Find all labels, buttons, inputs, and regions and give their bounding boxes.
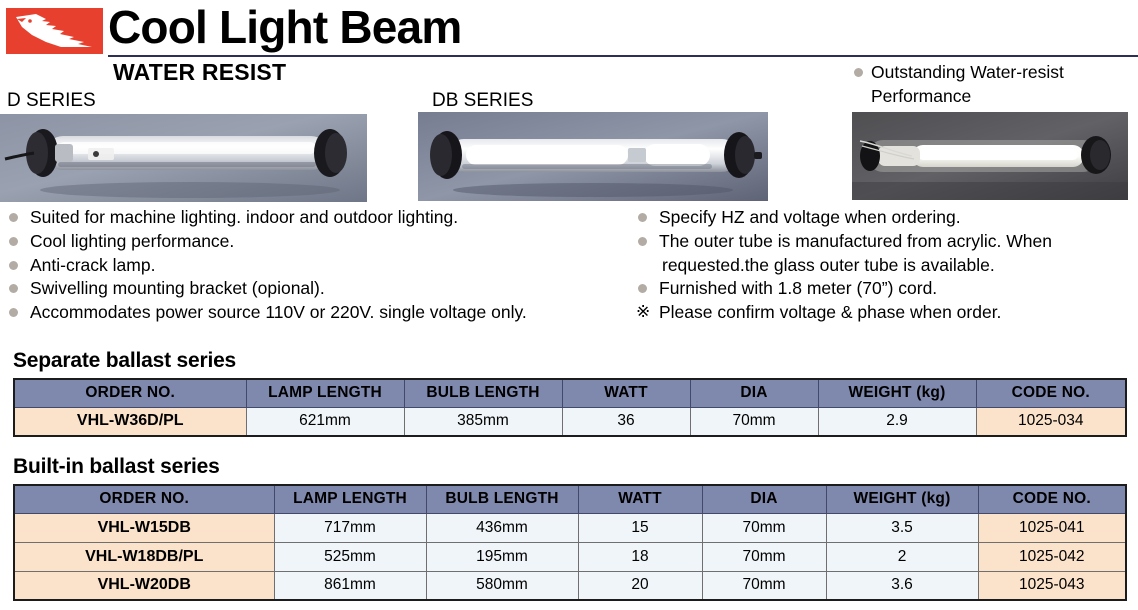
separate-ballast-table: ORDER NO. LAMP LENGTH BULB LENGTH WATT D… [13,378,1127,437]
tube-light-db-series-photo [418,112,768,201]
list-item-label-continued: requested.the glass outer tube is availa… [659,254,1138,278]
table-header-row: ORDER NO. LAMP LENGTH BULB LENGTH WATT D… [14,485,1126,513]
cell-watt: 15 [578,513,702,542]
cell-order-no: VHL-W18DB/PL [14,542,274,571]
cell-code-no: 1025-034 [976,407,1126,436]
cell-weight: 3.5 [826,513,978,542]
section-title-separate-ballast: Separate ballast series [13,348,236,374]
list-item: The outer tube is manufactured from acry… [637,230,1138,278]
cell-bulb-length: 580mm [426,571,578,600]
cell-order-no: VHL-W20DB [14,571,274,600]
column-header-weight: WEIGHT (kg) [818,379,976,407]
list-item-label: The outer tube is manufactured from acry… [659,231,1052,251]
cell-watt: 20 [578,571,702,600]
eagle-head-logo-icon [6,8,103,54]
bullet-icon [9,261,18,270]
column-header-bulb-length: BULB LENGTH [404,379,562,407]
list-item-note: ※ Please confirm voltage & phase when or… [637,301,1138,325]
column-header-order-no: ORDER NO. [14,485,274,513]
list-item: Swivelling mounting bracket (opional). [8,277,628,301]
table-row: VHL-W36D/PL 621mm 385mm 36 70mm 2.9 1025… [14,407,1126,436]
cell-code-no: 1025-041 [978,513,1126,542]
bullet-icon [9,213,18,222]
series-label-db: DB SERIES [432,89,533,113]
cell-dia: 70mm [702,513,826,542]
list-item: Accommodates power source 110V or 220V. … [8,301,628,325]
page-subtitle: WATER RESIST [113,57,286,87]
cell-order-no: VHL-W15DB [14,513,274,542]
list-item: Suited for machine lighting. indoor and … [8,206,628,230]
page-header: Cool Light Beam WATER RESIST Outstanding… [0,0,1138,88]
page-title: Cool Light Beam [108,0,461,55]
list-item-label: Accommodates power source 110V or 220V. … [30,302,527,322]
bullet-icon [9,237,18,246]
cell-lamp-length: 621mm [246,407,404,436]
column-header-watt: WATT [578,485,702,513]
column-header-code-no: CODE NO. [976,379,1126,407]
list-item-label: Specify HZ and voltage when ordering. [659,207,961,227]
cell-watt: 18 [578,542,702,571]
cell-code-no: 1025-042 [978,542,1126,571]
cell-lamp-length: 717mm [274,513,426,542]
list-item-label: Cool lighting performance. [30,231,234,251]
column-header-order-no: ORDER NO. [14,379,246,407]
cell-weight: 2 [826,542,978,571]
tube-light-lit-water-resist-photo [852,112,1128,200]
cell-lamp-length: 525mm [274,542,426,571]
column-header-lamp-length: LAMP LENGTH [274,485,426,513]
cell-weight: 3.6 [826,571,978,600]
cell-code-no: 1025-043 [978,571,1126,600]
series-label-d: D SERIES [7,89,96,113]
tube-light-d-series-photo [0,114,367,202]
cell-dia: 70mm [702,542,826,571]
table-row: VHL-W20DB 861mm 580mm 20 70mm 3.6 1025-0… [14,571,1126,600]
section-title-built-in-ballast: Built-in ballast series [13,454,220,480]
bullet-icon [854,68,863,77]
list-item: Cool lighting performance. [8,230,628,254]
bullet-icon [9,284,18,293]
note-label: Please confirm voltage & phase when orde… [659,302,1001,322]
list-item-label: Suited for machine lighting. indoor and … [30,207,458,227]
water-resist-callout: Outstanding Water-resist Performance [854,60,1138,108]
callout-line-1: Outstanding Water-resist [871,62,1064,82]
built-in-ballast-table: ORDER NO. LAMP LENGTH BULB LENGTH WATT D… [13,484,1127,601]
cell-bulb-length: 195mm [426,542,578,571]
table-row: VHL-W15DB 717mm 436mm 15 70mm 3.5 1025-0… [14,513,1126,542]
column-header-weight: WEIGHT (kg) [826,485,978,513]
table-row: VHL-W18DB/PL 525mm 195mm 18 70mm 2 1025-… [14,542,1126,571]
bullet-icon [638,237,647,246]
cell-weight: 2.9 [818,407,976,436]
cell-bulb-length: 385mm [404,407,562,436]
feature-list-left: Suited for machine lighting. indoor and … [8,206,628,325]
table-header-row: ORDER NO. LAMP LENGTH BULB LENGTH WATT D… [14,379,1126,407]
list-item: Specify HZ and voltage when ordering. [637,206,1138,230]
cell-dia: 70mm [702,571,826,600]
column-header-dia: DIA [690,379,818,407]
callout-line-2: Performance [854,84,1138,108]
cell-order-no: VHL-W36D/PL [14,407,246,436]
column-header-code-no: CODE NO. [978,485,1126,513]
bullet-icon [638,284,647,293]
list-item-label: Swivelling mounting bracket (opional). [30,278,325,298]
feature-list-right: Specify HZ and voltage when ordering. Th… [637,206,1138,325]
cell-dia: 70mm [690,407,818,436]
cell-bulb-length: 436mm [426,513,578,542]
list-item-label: Furnished with 1.8 meter (70”) cord. [659,278,937,298]
reference-mark-icon: ※ [636,300,650,324]
cell-watt: 36 [562,407,690,436]
list-item-label: Anti-crack lamp. [30,255,155,275]
column-header-watt: WATT [562,379,690,407]
list-item: Anti-crack lamp. [8,254,628,278]
cell-lamp-length: 861mm [274,571,426,600]
column-header-lamp-length: LAMP LENGTH [246,379,404,407]
column-header-dia: DIA [702,485,826,513]
bullet-icon [9,308,18,317]
bullet-icon [638,213,647,222]
list-item: Furnished with 1.8 meter (70”) cord. [637,277,1138,301]
column-header-bulb-length: BULB LENGTH [426,485,578,513]
